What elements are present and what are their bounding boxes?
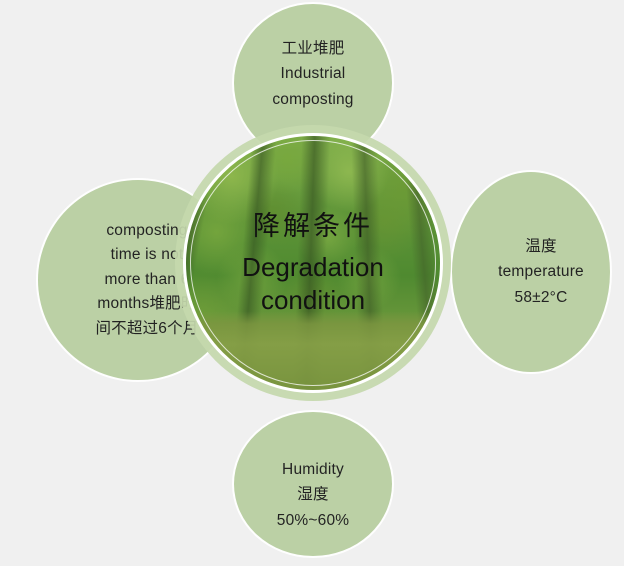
petal-humidity-line-3: 50%~60% xyxy=(242,508,384,533)
petal-industrial-composting-line-2: Industrial xyxy=(242,61,384,86)
petal-humidity-text: Humidity 湿度 50%~60% xyxy=(234,435,392,532)
petal-industrial-composting-text: 工业堆肥 Industrial composting xyxy=(234,36,392,129)
center-title-en-line-2: condition xyxy=(192,284,434,317)
petal-temperature[interactable]: 温度 temperature 58±2°C xyxy=(452,172,610,372)
petal-temperature-text: 温度 temperature 58±2°C xyxy=(452,234,610,309)
petal-temperature-line-3: 58±2°C xyxy=(476,285,606,310)
petal-industrial-composting-line-1: 工业堆肥 xyxy=(242,36,384,61)
center-circle-degradation-condition[interactable]: 降解条件 Degradation condition xyxy=(183,133,443,393)
degradation-condition-diagram: 工业堆肥 Industrial composting composting ti… xyxy=(0,0,624,566)
petal-industrial-composting-line-3: composting xyxy=(242,87,384,112)
petal-humidity-line-1: Humidity xyxy=(242,457,384,482)
petal-humidity-line-2: 湿度 xyxy=(242,482,384,507)
petal-temperature-line-2: temperature xyxy=(476,259,606,284)
center-title: 降解条件 Degradation condition xyxy=(186,209,440,317)
center-title-cn: 降解条件 xyxy=(192,209,434,244)
petal-temperature-line-1: 温度 xyxy=(476,234,606,259)
petal-humidity[interactable]: Humidity 湿度 50%~60% xyxy=(234,412,392,556)
center-title-en-line-1: Degradation xyxy=(192,251,434,284)
